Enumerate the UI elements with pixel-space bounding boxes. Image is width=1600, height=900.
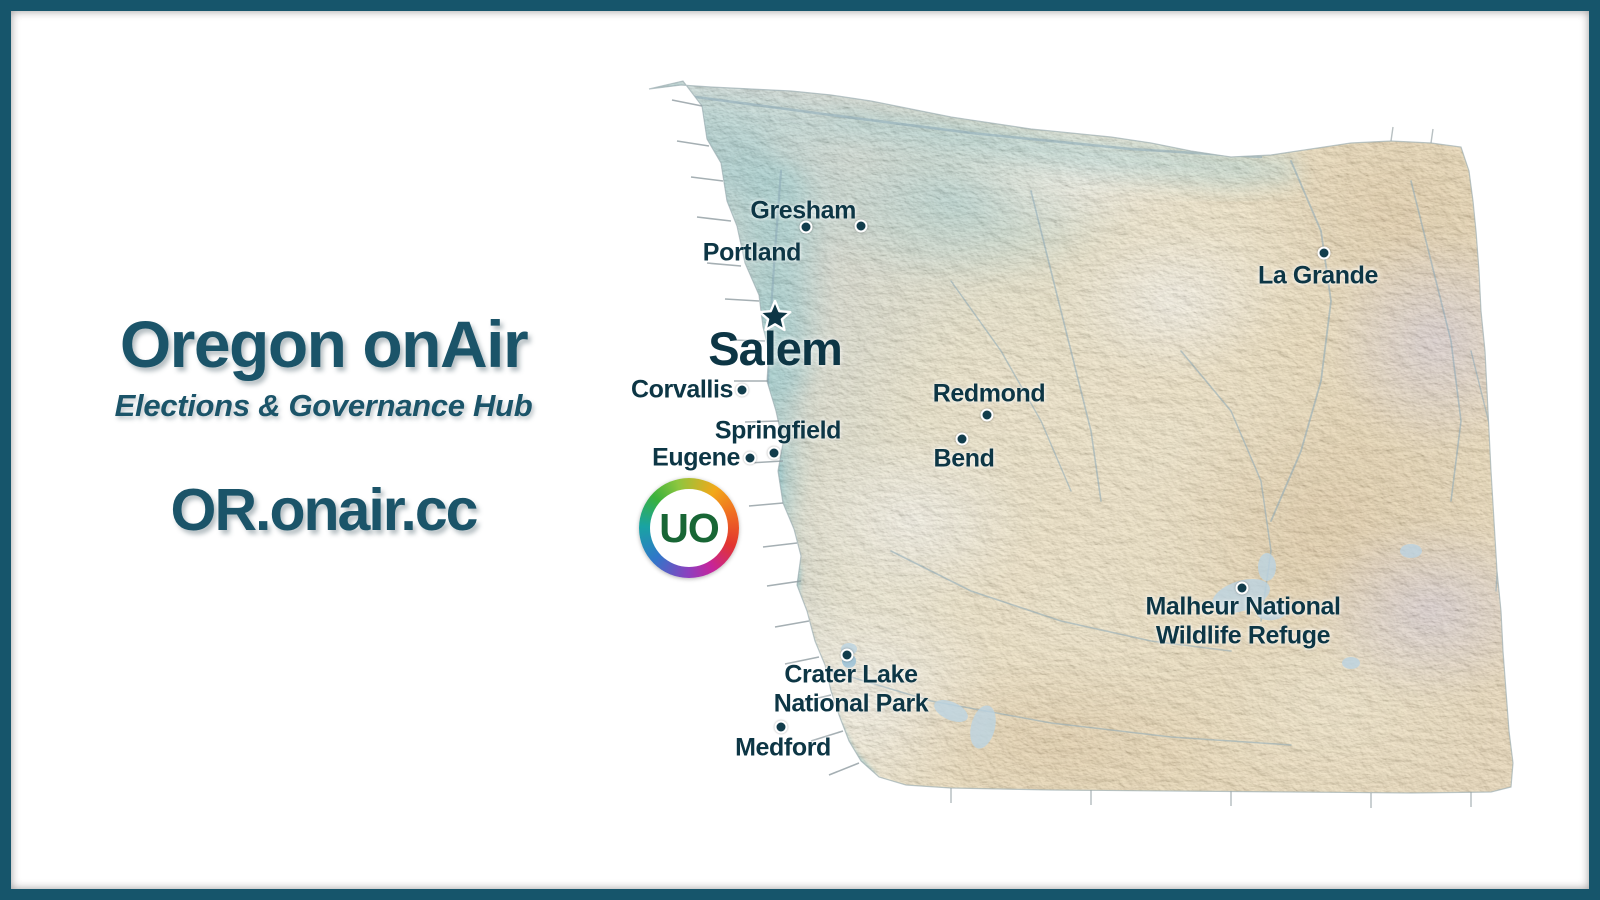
page-title: Oregon onAir bbox=[51, 311, 596, 378]
oregon-terrain-map bbox=[531, 51, 1571, 841]
north-border-ticks bbox=[1391, 127, 1433, 143]
crater-lake bbox=[842, 654, 856, 668]
uo-logo[interactable]: UO bbox=[639, 478, 739, 578]
brand-block: Oregon onAir Elections & Governance Hub … bbox=[51, 311, 596, 544]
uo-logo-initials: UO bbox=[659, 508, 719, 549]
poster-canvas: Gresham Portland La Grande Salem Corvall… bbox=[11, 11, 1589, 889]
site-url[interactable]: OR.onair.cc bbox=[51, 476, 596, 544]
page-subtitle: Elections & Governance Hub bbox=[51, 388, 596, 424]
terrain-body bbox=[531, 51, 1571, 841]
map-svg bbox=[531, 51, 1571, 841]
poster-frame: Gresham Portland La Grande Salem Corvall… bbox=[0, 0, 1600, 900]
uo-logo-inner: UO bbox=[650, 489, 728, 567]
